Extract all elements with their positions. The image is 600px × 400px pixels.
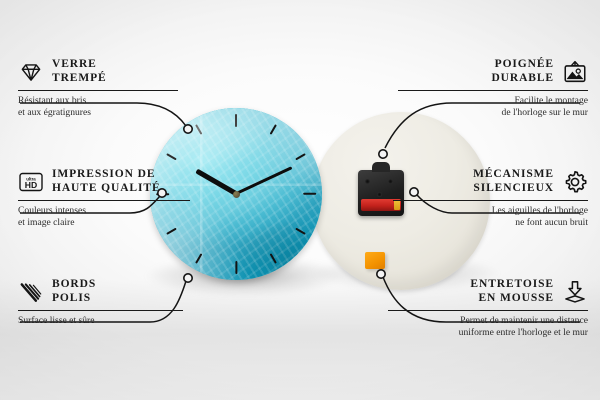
svg-text:HD: HD	[25, 180, 37, 190]
callout-bords-polis[interactable]: BORDSPOLIS Surface lisse et sûre	[18, 278, 183, 327]
callout-description: Surface lisse et sûre	[18, 315, 183, 327]
callout-poignee-durable[interactable]: POIGNÉEDURABLE Facilite le montage de l'…	[398, 58, 588, 118]
callout-rule	[18, 310, 183, 311]
callout-title: BORDSPOLIS	[52, 278, 96, 305]
gear-icon	[562, 169, 588, 195]
foam-spacer-icon	[562, 279, 588, 305]
callout-rule	[388, 310, 588, 311]
callout-entretoise-en-mousse[interactable]: ENTRETOISEEN MOUSSE Permet de maintenir …	[388, 278, 588, 338]
callout-description: Couleurs intenses et image claire	[18, 205, 190, 228]
callout-list: VERRETREMPÉ Résistant aux bris et aux ég…	[0, 0, 600, 400]
callout-rule	[18, 90, 178, 91]
callout-title: ENTRETOISEEN MOUSSE	[470, 278, 554, 305]
callout-description: Résistant aux bris et aux égratignures	[18, 95, 178, 118]
callout-verre-trempe[interactable]: VERRETREMPÉ Résistant aux bris et aux ég…	[18, 58, 178, 118]
callout-title: IMPRESSION DEHAUTE QUALITÉ	[52, 168, 161, 195]
callout-impression-haute-qualite[interactable]: ultra HD IMPRESSION DEHAUTE QUALITÉ Coul…	[18, 168, 190, 228]
callout-description: Facilite le montage de l'horloge sur le …	[398, 95, 588, 118]
product-infographic: VERRETREMPÉ Résistant aux bris et aux ég…	[0, 0, 600, 400]
diamond-icon	[18, 59, 44, 85]
polished-edge-icon	[18, 279, 44, 305]
callout-title: VERRETREMPÉ	[52, 58, 107, 85]
callout-mecanisme-silencieux[interactable]: MÉCANISMESILENCIEUX Les aiguilles de l'h…	[393, 168, 588, 228]
callout-description: Permet de maintenir une distance uniform…	[388, 315, 588, 338]
callout-rule	[18, 200, 190, 201]
picture-hanger-icon	[562, 59, 588, 85]
ultra-hd-icon: ultra HD	[18, 169, 44, 195]
callout-title: MÉCANISMESILENCIEUX	[473, 168, 554, 195]
callout-title: POIGNÉEDURABLE	[491, 58, 554, 85]
callout-rule	[398, 90, 588, 91]
callout-description: Les aiguilles de l'horloge ne font aucun…	[393, 205, 588, 228]
callout-rule	[393, 200, 588, 201]
